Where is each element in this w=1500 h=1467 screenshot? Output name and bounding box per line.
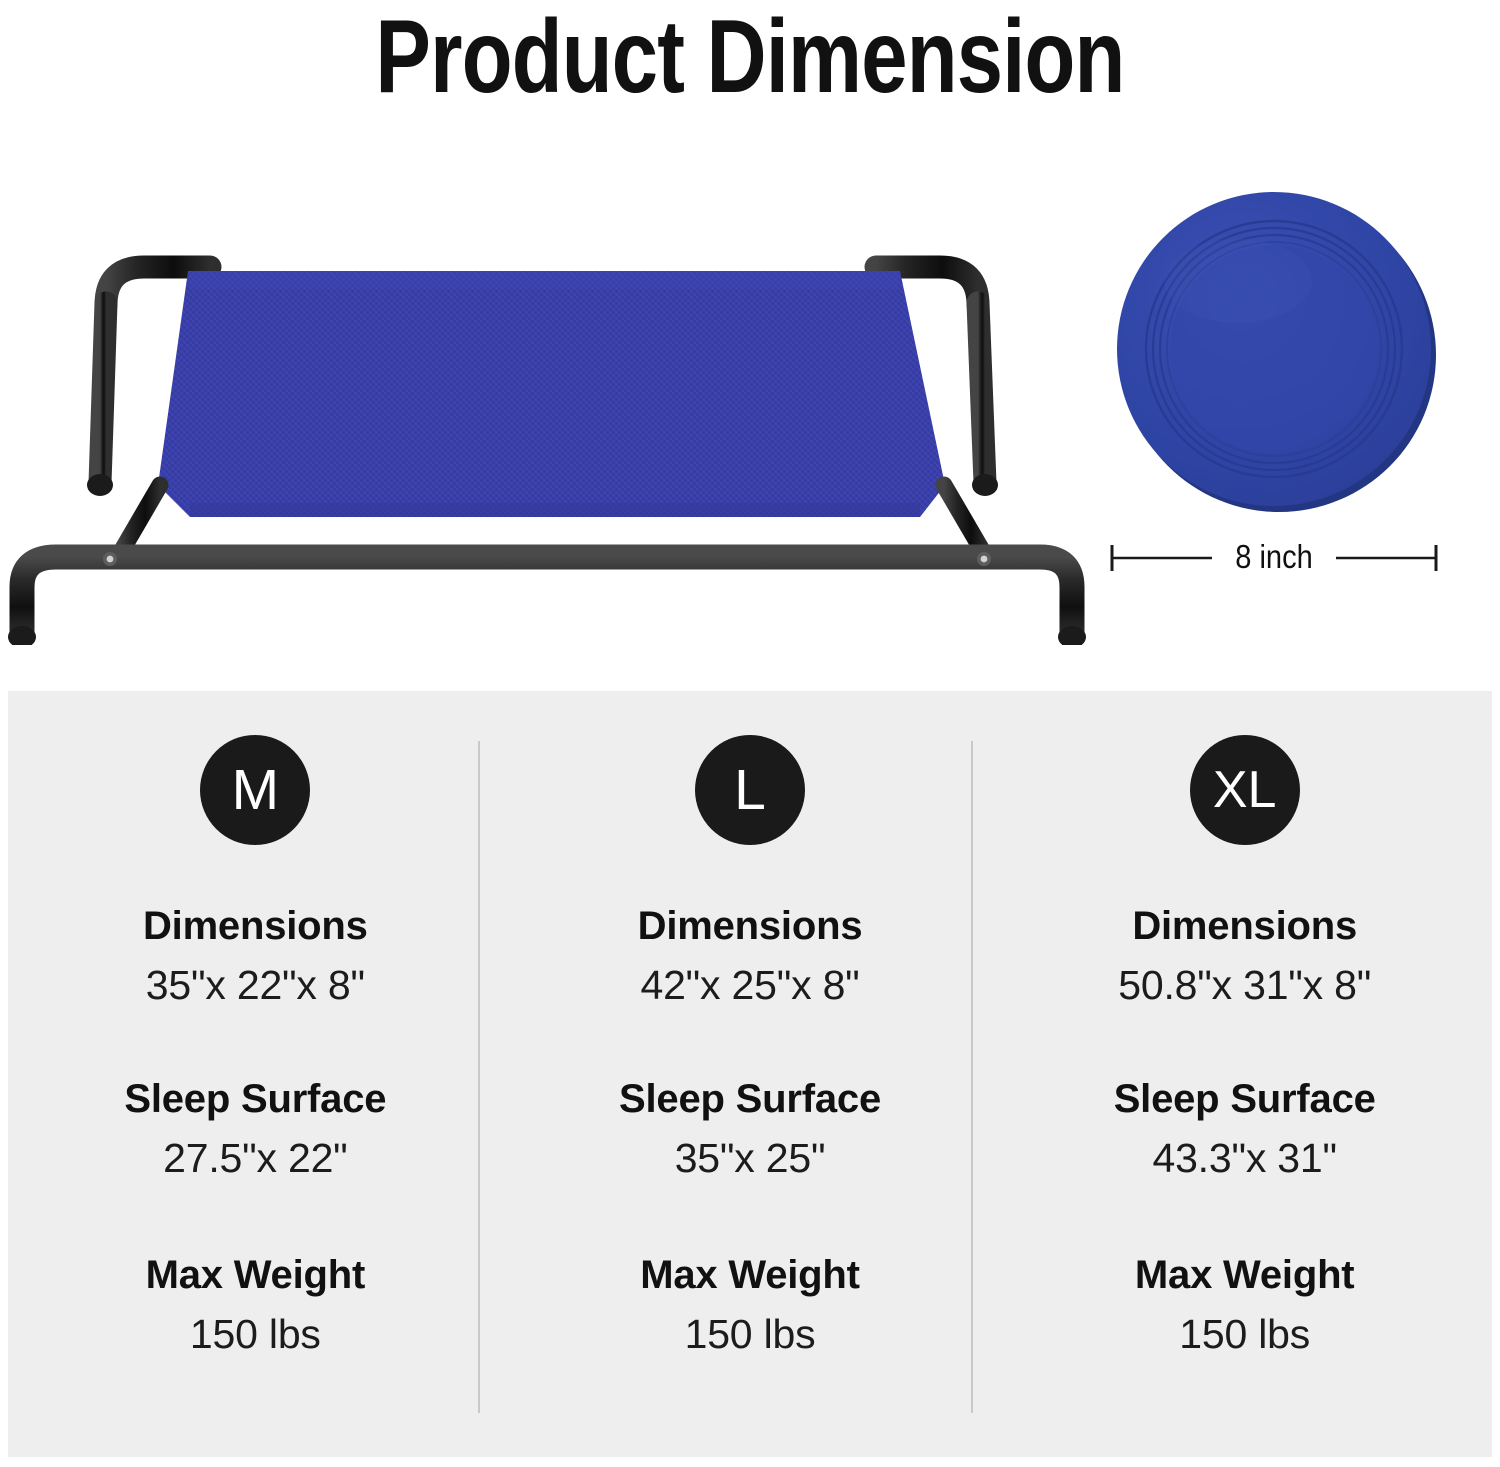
- spec-column-l: L Dimensions 42"x 25"x 8" Sleep Surface …: [503, 691, 998, 1457]
- sleep-surface-label-m: Sleep Surface: [8, 1074, 503, 1124]
- max-weight-value-xl: 150 lbs: [997, 1308, 1492, 1361]
- dimensions-value-xl: 50.8"x 31"x 8": [997, 959, 1492, 1012]
- flying-disc-group: 8 inch: [1100, 185, 1460, 625]
- bed-bolt-left: [103, 552, 117, 566]
- dimensions-label-xl: Dimensions: [997, 901, 1492, 951]
- max-weight-value-l: 150 lbs: [503, 1308, 998, 1361]
- flying-disc-image: [1110, 185, 1440, 515]
- size-badge-l: L: [695, 735, 805, 845]
- sleep-surface-value-m: 27.5"x 22": [8, 1132, 503, 1185]
- max-weight-value-m: 150 lbs: [8, 1308, 503, 1361]
- title-area: Product Dimension: [0, 0, 1500, 125]
- spec-column-m: M Dimensions 35"x 22"x 8" Sleep Surface …: [8, 691, 503, 1457]
- sleep-surface-label-xl: Sleep Surface: [997, 1074, 1492, 1124]
- bed-bolt-right: [977, 552, 991, 566]
- max-weight-label-m: Max Weight: [8, 1250, 503, 1300]
- sleep-surface-value-xl: 43.3"x 31": [997, 1132, 1492, 1185]
- sleep-surface-value-l: 35"x 25": [503, 1132, 998, 1185]
- size-badge-m: M: [200, 735, 310, 845]
- product-hero: 8 inch: [0, 125, 1500, 690]
- specs-panel: M Dimensions 35"x 22"x 8" Sleep Surface …: [8, 691, 1492, 1457]
- elevated-pet-bed-image: [0, 185, 1090, 645]
- sleep-surface-label-l: Sleep Surface: [503, 1074, 998, 1124]
- size-badge-xl: XL: [1190, 735, 1300, 845]
- dimensions-value-l: 42"x 25"x 8": [503, 959, 998, 1012]
- max-weight-label-l: Max Weight: [503, 1250, 998, 1300]
- page-title: Product Dimension: [150, 0, 1350, 119]
- dimensions-value-m: 35"x 22"x 8": [8, 959, 503, 1012]
- dimensions-label-l: Dimensions: [503, 901, 998, 951]
- dimensions-label-m: Dimensions: [8, 901, 503, 951]
- bed-fabric-surface: [158, 271, 945, 517]
- disc-dimension-label: 8 inch: [1121, 537, 1427, 577]
- spec-column-xl: XL Dimensions 50.8"x 31"x 8" Sleep Surfa…: [997, 691, 1492, 1457]
- bed-front-leg-frame: [8, 557, 1086, 645]
- max-weight-label-xl: Max Weight: [997, 1250, 1492, 1300]
